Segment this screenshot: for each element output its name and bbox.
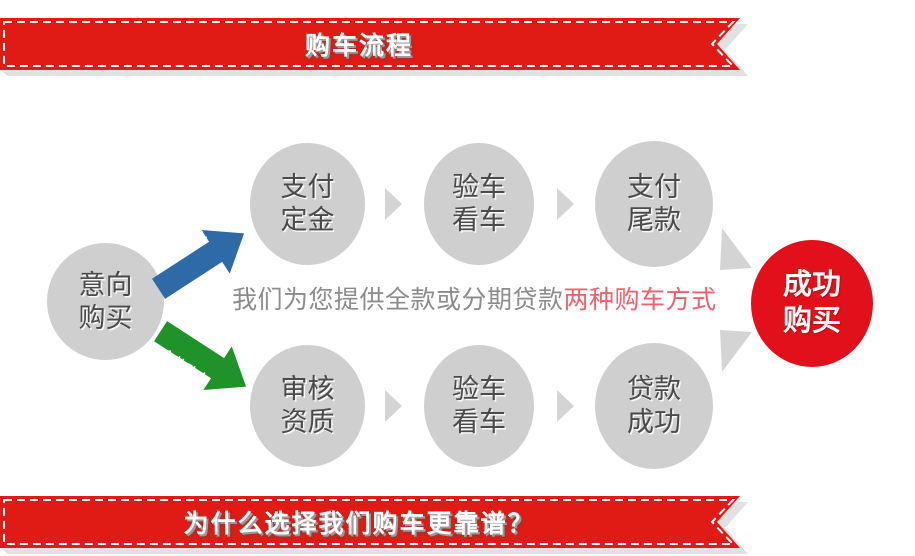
- flow-node-success-line2: 购买: [783, 304, 841, 339]
- flow-node-top-2: 验车 看车: [424, 143, 534, 265]
- flow-node-success-line1: 成功: [783, 268, 841, 303]
- flow-node-bottom-1: 审核 资质: [250, 345, 365, 467]
- flow-node-start: 意向 购买: [47, 243, 164, 360]
- middle-note-plain: 我们为您提供全款或分期贷款: [232, 286, 564, 314]
- flow-node-bottom-2-line2: 看车: [452, 406, 506, 439]
- header-title: 购车流程: [0, 18, 718, 70]
- flow-node-bottom-3: 贷款 成功: [595, 343, 713, 469]
- branch-arrow-bottom-shape: [150, 318, 260, 408]
- purchase-flow-infographic: 购车流程 意向 购买 全款购车 全款购车: [0, 0, 915, 551]
- branch-arrow-bottom: 全款购车: [150, 318, 260, 413]
- flow-node-start-line2: 购买: [79, 302, 133, 335]
- flow-node-bottom-2-line1: 验车: [452, 373, 506, 406]
- flow-arrow-bottom-to-success: [718, 328, 758, 374]
- footer-title: 为什么选择我们购车更靠谱？: [0, 496, 718, 548]
- middle-note-highlight: 两种购车方式: [564, 286, 717, 314]
- flow-node-top-1-line1: 支付: [281, 171, 335, 204]
- flow-node-top-3: 支付 尾款: [595, 141, 713, 267]
- flow-node-bottom-2: 验车 看车: [424, 345, 534, 467]
- middle-note: 我们为您提供全款或分期贷款两种购车方式: [232, 280, 732, 316]
- flow-arrow-bottom-1: [385, 390, 402, 422]
- flow-arrow-top-1: [385, 188, 402, 220]
- flow-node-top-2-line2: 看车: [452, 204, 506, 237]
- flow-node-top-1: 支付 定金: [250, 143, 365, 265]
- flow-node-top-3-line1: 支付: [627, 171, 681, 204]
- flow-node-bottom-3-line1: 贷款: [627, 373, 681, 406]
- flow-node-start-line1: 意向: [79, 269, 133, 302]
- flow-node-top-3-line2: 尾款: [627, 204, 681, 237]
- flow-arrow-top-2: [557, 188, 574, 220]
- flow-node-bottom-1-line2: 资质: [281, 406, 335, 439]
- flow-node-success: 成功 购买: [751, 240, 873, 367]
- flow-arrow-bottom-2: [557, 390, 574, 422]
- flow-diagram: 意向 购买 全款购车 全款购车 支付 定金: [0, 100, 915, 490]
- flow-node-top-1-line2: 定金: [281, 204, 335, 237]
- flow-node-top-2-line1: 验车: [452, 171, 506, 204]
- flow-node-bottom-3-line2: 成功: [627, 406, 681, 439]
- flow-arrow-top-to-success: [718, 228, 758, 274]
- flow-node-bottom-1-line1: 审核: [281, 373, 335, 406]
